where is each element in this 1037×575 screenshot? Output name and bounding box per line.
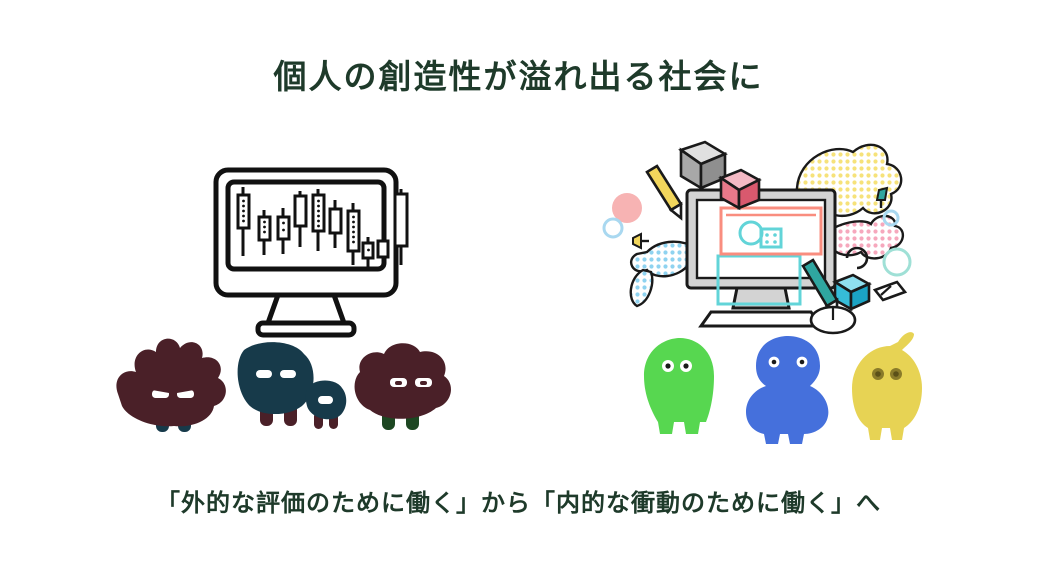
pin-icon-left bbox=[633, 234, 649, 248]
page-title: 個人の創造性が溢れ出る社会に bbox=[0, 50, 1037, 98]
gray-cube-icon bbox=[681, 142, 725, 188]
stock-chart-monitor-illustration bbox=[196, 155, 416, 340]
dark-character-group bbox=[108, 332, 468, 447]
green-blob bbox=[644, 338, 714, 434]
blob-pupil bbox=[420, 381, 427, 385]
blob-pupil bbox=[665, 363, 670, 368]
monitor-base bbox=[701, 312, 821, 326]
blue-splash-drip bbox=[631, 270, 652, 306]
blue-cube-icon bbox=[835, 275, 869, 309]
blob-eye bbox=[256, 370, 272, 378]
spiky-maroon-blob bbox=[116, 339, 225, 432]
colorful-character-group bbox=[608, 330, 948, 450]
blob-body bbox=[852, 332, 922, 440]
round-teal-blob bbox=[238, 342, 314, 426]
blob-body bbox=[116, 339, 225, 427]
blob-body bbox=[746, 336, 828, 444]
eraser-icon bbox=[875, 282, 905, 300]
yellow-blob bbox=[852, 332, 922, 440]
blob-pupil bbox=[683, 363, 688, 368]
blob-body bbox=[644, 338, 714, 434]
small-teal-blob bbox=[306, 381, 347, 430]
blob-pupil bbox=[395, 381, 402, 385]
pink-cube-icon bbox=[721, 170, 759, 208]
blob-eye bbox=[318, 396, 333, 404]
page-caption: 「外的な評価のために働く」から「内的な衝動のために働く」へ bbox=[0, 483, 1037, 518]
blob-body bbox=[238, 342, 314, 414]
yellow-pencil-icon bbox=[647, 166, 681, 218]
blue-ring-decoration bbox=[604, 219, 622, 237]
blob-pupil bbox=[800, 360, 805, 365]
blob-pupil bbox=[893, 371, 899, 377]
slide-canvas: 個人の創造性が溢れ出る社会に bbox=[0, 0, 1037, 575]
cloud-maroon-blob bbox=[355, 343, 451, 430]
mint-ring-decoration bbox=[884, 249, 910, 275]
monitor-stand-neck bbox=[268, 295, 344, 323]
blue-blob bbox=[746, 336, 828, 444]
creative-design-monitor-illustration bbox=[585, 130, 945, 340]
blob-pupil bbox=[875, 371, 881, 377]
blob-pupil bbox=[772, 360, 777, 365]
blob-eye bbox=[280, 370, 296, 378]
